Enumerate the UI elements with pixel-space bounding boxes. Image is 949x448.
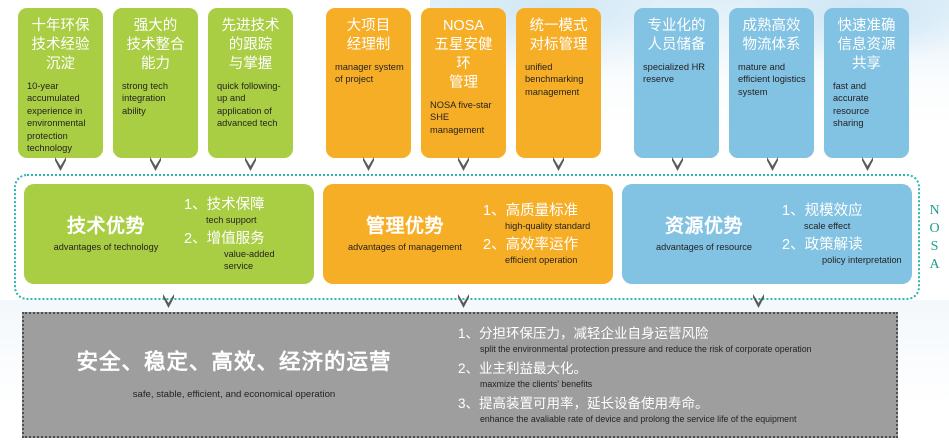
advantage-item-en: efficient operation [483, 254, 605, 266]
feature-card-desc: unified benchmarking management [523, 61, 594, 98]
advantage-item-zh: 2、高效率运作 [483, 236, 605, 254]
feature-card-title: 成熟高效物流体系 [736, 17, 807, 55]
advantage-item-en: tech support [184, 214, 306, 226]
card-group-technology: 十年环保技术经验沉淀 10-year accumulated experienc… [18, 8, 303, 158]
advantage-heading-en: advantages of technology [30, 241, 182, 254]
summary-items: 1、分担环保压力，减轻企业自身运营风险 split the environmen… [454, 325, 896, 425]
advantage-panel-resource[interactable]: 资源优势 advantages of resource 1、规模效应 scale… [622, 184, 912, 284]
advantage-item-en: value-added service [184, 248, 306, 272]
advantage-item: 2、政策解读 policy interpretation [782, 236, 904, 266]
feature-card-desc: NOSA five-star SHE management [428, 99, 499, 136]
advantage-item: 1、高质量标准 high-quality standard [483, 202, 605, 232]
summary-item-en: split the environmental protection press… [458, 343, 896, 355]
advantage-heading-zh: 管理优势 [329, 215, 481, 239]
feature-cards-row: 十年环保技术经验沉淀 10-year accumulated experienc… [0, 8, 949, 160]
advantage-heading-zh: 技术优势 [30, 215, 182, 239]
arrow-down-icon-card-7 [671, 157, 684, 172]
advantage-heading-block: 技术优势 advantages of technology [30, 215, 182, 254]
advantage-heading-block: 资源优势 advantages of resource [628, 215, 780, 254]
advantage-items: 1、技术保障 tech support 2、增值服务 value-added s… [182, 196, 306, 272]
arrow-down-icon-card-1 [54, 157, 67, 172]
advantage-item: 2、增值服务 value-added service [184, 230, 306, 272]
feature-card-title: 先进技术的跟踪与掌握 [215, 17, 286, 74]
advantage-item: 1、技术保障 tech support [184, 196, 306, 226]
summary-item-zh: 3、提高装置可用率，延长设备使用寿命。 [458, 395, 896, 413]
advantage-heading-block: 管理优势 advantages of management [329, 215, 481, 254]
arrow-down-icon-advantage-1 [162, 294, 175, 309]
arrow-down-icon-advantage-2 [457, 294, 470, 309]
feature-card-desc: strong tech integration ability [120, 80, 191, 117]
feature-card-title: 统一模式对标管理 [523, 17, 594, 55]
advantage-item: 2、高效率运作 efficient operation [483, 236, 605, 266]
summary-item: 1、分担环保压力，减轻企业自身运营风险 split the environmen… [458, 325, 896, 355]
advantage-item-zh: 2、增值服务 [184, 230, 306, 248]
advantage-item: 1、规模效应 scale effect [782, 202, 904, 232]
feature-card-mgmt-2[interactable]: NOSA五星安健环管理 NOSA five-star SHE managemen… [421, 8, 506, 158]
feature-card-title: 强大的技术整合能力 [120, 17, 191, 74]
arrow-down-icon-card-9 [861, 157, 874, 172]
feature-card-desc: mature and efficient logistics system [736, 61, 807, 98]
advantage-heading-zh: 资源优势 [628, 215, 780, 239]
feature-card-res-2[interactable]: 成熟高效物流体系 mature and efficient logistics … [729, 8, 814, 158]
feature-card-tech-2[interactable]: 强大的技术整合能力 strong tech integration abilit… [113, 8, 198, 158]
feature-card-mgmt-3[interactable]: 统一模式对标管理 unified benchmarking management [516, 8, 601, 158]
advantage-panel-technology[interactable]: 技术优势 advantages of technology 1、技术保障 tec… [24, 184, 314, 284]
advantage-item-en: policy interpretation [782, 254, 904, 266]
arrow-down-icon-card-3 [244, 157, 257, 172]
advantage-item-en: high-quality standard [483, 220, 605, 232]
card-group-resource: 专业化的人员储备 specialized HR reserve 成熟高效物流体系… [634, 8, 919, 158]
feature-card-title: 十年环保技术经验沉淀 [25, 17, 96, 74]
advantages-row: 技术优势 advantages of technology 1、技术保障 tec… [24, 184, 914, 290]
advantage-panel-management[interactable]: 管理优势 advantages of management 1、高质量标准 hi… [323, 184, 613, 284]
advantage-items: 1、规模效应 scale effect 2、政策解读 policy interp… [780, 202, 904, 266]
feature-card-desc: quick following-up and application of ad… [215, 80, 286, 130]
advantage-heading-en: advantages of management [329, 241, 481, 254]
arrow-down-icon-card-4 [362, 157, 375, 172]
feature-card-desc: specialized HR reserve [641, 61, 712, 86]
summary-heading-en: safe, stable, efficient, and economical … [24, 388, 444, 402]
summary-item-en: enhance the avaliable rate of device and… [458, 413, 896, 425]
feature-card-desc: 10-year accumulated experience in enviro… [25, 80, 96, 154]
feature-card-desc: manager system of project [333, 61, 404, 86]
feature-card-tech-3[interactable]: 先进技术的跟踪与掌握 quick following-up and applic… [208, 8, 293, 158]
feature-card-res-3[interactable]: 快速准确信息资源共享 fast and accurate resource sh… [824, 8, 909, 158]
advantage-heading-en: advantages of resource [628, 241, 780, 254]
feature-card-title: NOSA五星安健环管理 [428, 17, 499, 93]
summary-item-zh: 1、分担环保压力，减轻企业自身运营风险 [458, 325, 896, 343]
summary-item: 2、业主利益最大化。 maxmize the clients' benefits [458, 360, 896, 390]
summary-item-zh: 2、业主利益最大化。 [458, 360, 896, 378]
summary-heading-block: 安全、稳定、高效、经济的运营 safe, stable, efficient, … [24, 348, 454, 402]
summary-item-en: maxmize the clients' benefits [458, 378, 896, 390]
advantage-item-en: scale effect [782, 220, 904, 232]
feature-card-title: 大项目经理制 [333, 17, 404, 55]
advantage-item-zh: 1、高质量标准 [483, 202, 605, 220]
feature-card-desc: fast and accurate resource sharing [831, 80, 902, 130]
arrow-down-icon-card-5 [457, 157, 470, 172]
summary-item: 3、提高装置可用率，延长设备使用寿命。 enhance the avaliabl… [458, 395, 896, 425]
summary-heading-zh: 安全、稳定、高效、经济的运营 [24, 348, 444, 376]
arrow-down-icon-card-8 [766, 157, 779, 172]
feature-card-tech-1[interactable]: 十年环保技术经验沉淀 10-year accumulated experienc… [18, 8, 103, 158]
advantage-items: 1、高质量标准 high-quality standard 2、高效率运作 ef… [481, 202, 605, 266]
feature-card-mgmt-1[interactable]: 大项目经理制 manager system of project [326, 8, 411, 158]
advantage-item-zh: 2、政策解读 [782, 236, 904, 254]
arrow-down-icon-card-2 [149, 157, 162, 172]
nosa-vertical-label: NOSA [918, 188, 949, 290]
advantage-item-zh: 1、技术保障 [184, 196, 306, 214]
feature-card-res-1[interactable]: 专业化的人员储备 specialized HR reserve [634, 8, 719, 158]
feature-card-title: 快速准确信息资源共享 [831, 17, 902, 74]
arrow-down-icon-advantage-3 [752, 294, 765, 309]
card-group-management: 大项目经理制 manager system of project NOSA五星安… [326, 8, 611, 158]
summary-panel: 安全、稳定、高效、经济的运营 safe, stable, efficient, … [22, 312, 898, 438]
advantage-item-zh: 1、规模效应 [782, 202, 904, 220]
feature-card-title: 专业化的人员储备 [641, 17, 712, 55]
slide-stage: 十年环保技术经验沉淀 10-year accumulated experienc… [0, 0, 949, 448]
arrow-down-icon-card-6 [552, 157, 565, 172]
